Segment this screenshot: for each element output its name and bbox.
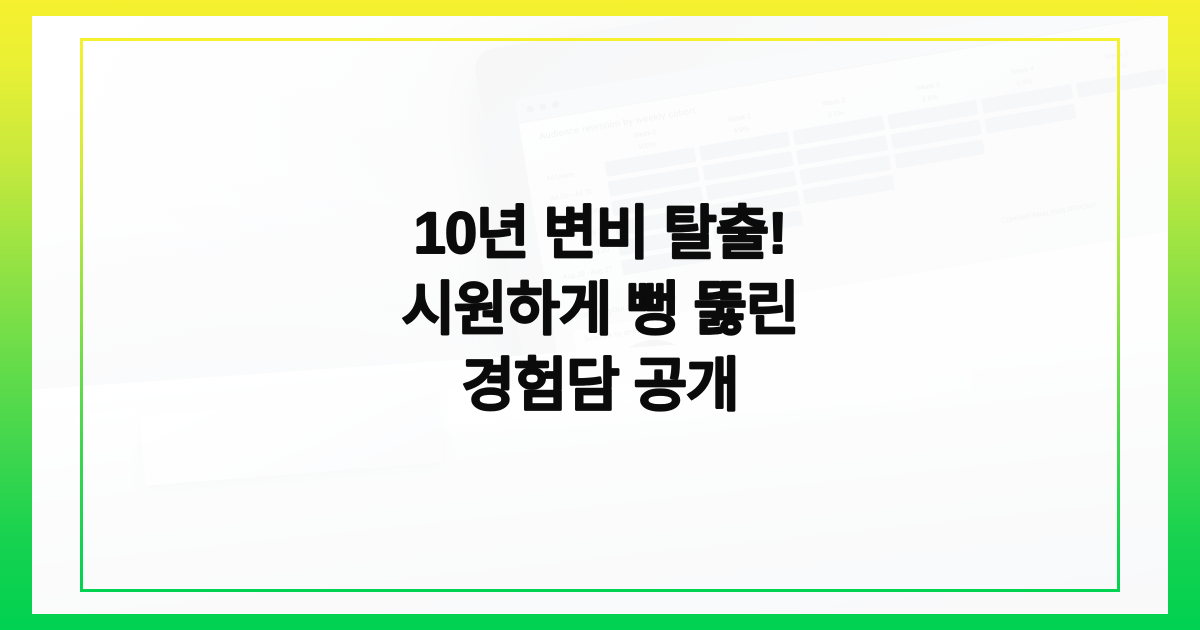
headline-line-2: 시원하게 뻥 뚫린: [0, 272, 1200, 348]
headline: 10년 변비 탈출! 시원하게 뻥 뚫린 경험담 공개: [0, 196, 1200, 424]
browser-dot-icon: [526, 105, 534, 113]
cohort-row-label: All Users: [546, 167, 601, 183]
headline-line-1: 10년 변비 탈출!: [0, 196, 1200, 272]
thumbnail-card: Audience retention by weekly cohort Week…: [0, 0, 1200, 630]
headline-line-3: 경험담 공개: [0, 348, 1200, 424]
browser-dot-icon: [552, 101, 560, 109]
browser-dot-icon: [539, 103, 547, 111]
